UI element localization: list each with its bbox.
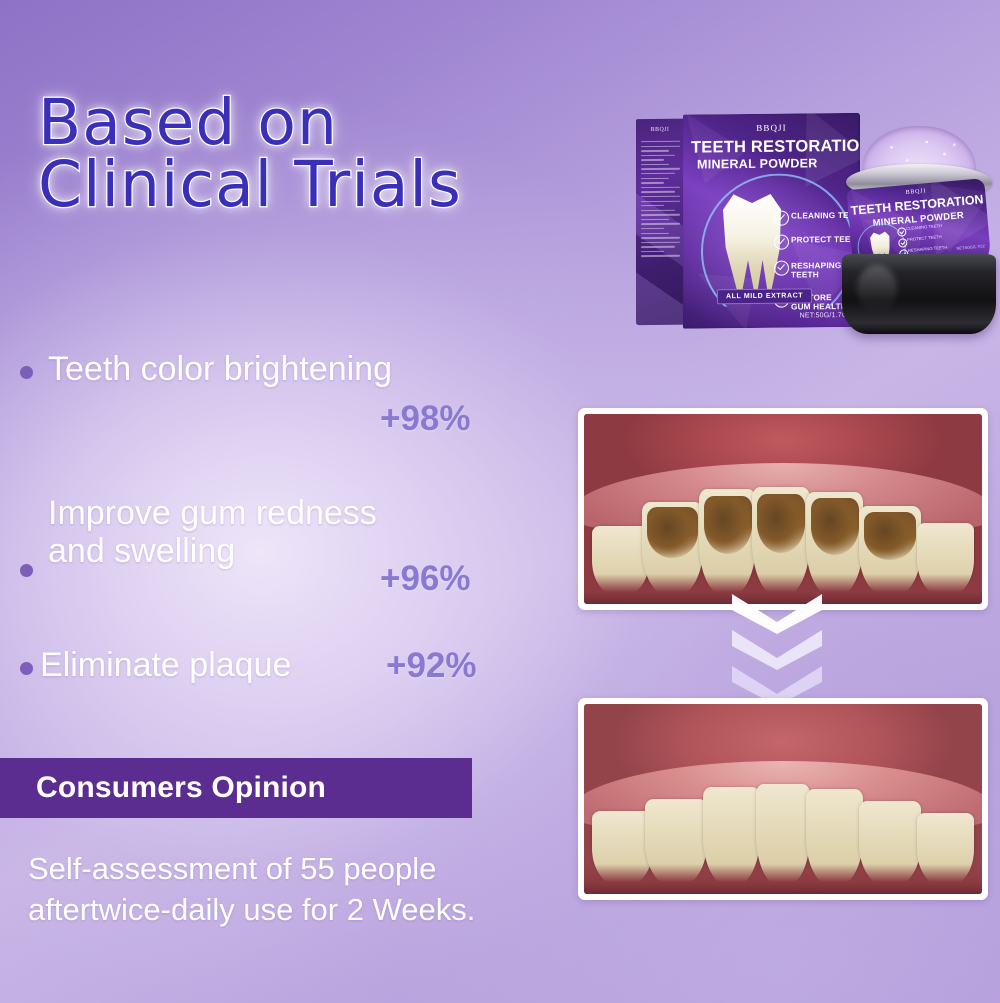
benefit-item: Improve gum redness and swelling +96% xyxy=(18,478,558,626)
benefit-label: Teeth color brightening xyxy=(48,350,392,388)
bullet-dot-icon xyxy=(20,564,33,577)
bullet-dot-icon xyxy=(20,662,33,675)
plaque-stain xyxy=(864,512,915,561)
benefit-value: +96% xyxy=(380,559,471,599)
product-box-side-panel: BBQJI xyxy=(636,119,684,326)
benefit-value: +98% xyxy=(380,399,471,439)
plaque-stain xyxy=(704,496,752,554)
transition-arrows xyxy=(724,588,830,706)
before-photo xyxy=(578,408,988,610)
benefit-label: Eliminate plaque xyxy=(40,646,291,684)
after-photo xyxy=(578,698,988,900)
before-photo-image xyxy=(584,414,982,604)
study-caption: Self-assessment of 55 people aftertwice-… xyxy=(28,848,588,930)
plaque-stain xyxy=(647,507,698,558)
plaque-stain xyxy=(757,494,805,553)
product-image: BBQJI BBQJI TEETH RESTORATION MINERAL PO… xyxy=(636,108,1000,340)
box-side-fineprint xyxy=(641,141,680,260)
product-marketing-poster: Based on Clinical Trials BBQJI BBQJI TEE… xyxy=(0,0,1000,1003)
consumers-opinion-banner: Consumers Opinion xyxy=(0,758,472,818)
benefit-item: Teeth color brightening +98% xyxy=(18,344,558,464)
after-photo-image xyxy=(584,704,982,894)
box-title-line2: MINERAL POWDER xyxy=(697,156,856,172)
plaque-stain xyxy=(811,498,859,554)
benefits-list: Teeth color brightening +98% Improve gum… xyxy=(18,344,558,724)
box-feature-label: RESHAPING TEETH xyxy=(791,261,841,280)
product-box-front: BBQJI TEETH RESTORATION MINERAL POWDER C… xyxy=(683,113,860,329)
jar-base xyxy=(842,254,996,334)
check-icon xyxy=(774,211,789,226)
page-title: Based on Clinical Trials xyxy=(38,92,668,217)
benefit-item: Eliminate plaque +92% xyxy=(18,640,558,710)
bullet-dot-icon xyxy=(20,366,33,379)
box-side-brand: BBQJI xyxy=(636,127,684,134)
box-brand: BBQJI xyxy=(683,122,860,134)
check-icon xyxy=(774,261,789,276)
product-box: BBQJI BBQJI TEETH RESTORATION MINERAL PO… xyxy=(636,113,860,329)
benefit-value: +92% xyxy=(386,646,477,686)
box-badge: ALL MILD EXTRACT xyxy=(717,288,812,304)
check-icon xyxy=(774,235,789,250)
lower-lip xyxy=(584,864,982,894)
consumers-opinion-label: Consumers Opinion xyxy=(36,771,326,805)
benefit-label: Improve gum redness and swelling xyxy=(48,494,377,571)
box-title-line1: TEETH RESTORATION xyxy=(691,137,856,158)
box-feature-item: RESHAPING TEETH xyxy=(791,261,841,280)
product-jar: BBQJI TEETH RESTORATION MINERAL POWDER C… xyxy=(838,126,1000,338)
